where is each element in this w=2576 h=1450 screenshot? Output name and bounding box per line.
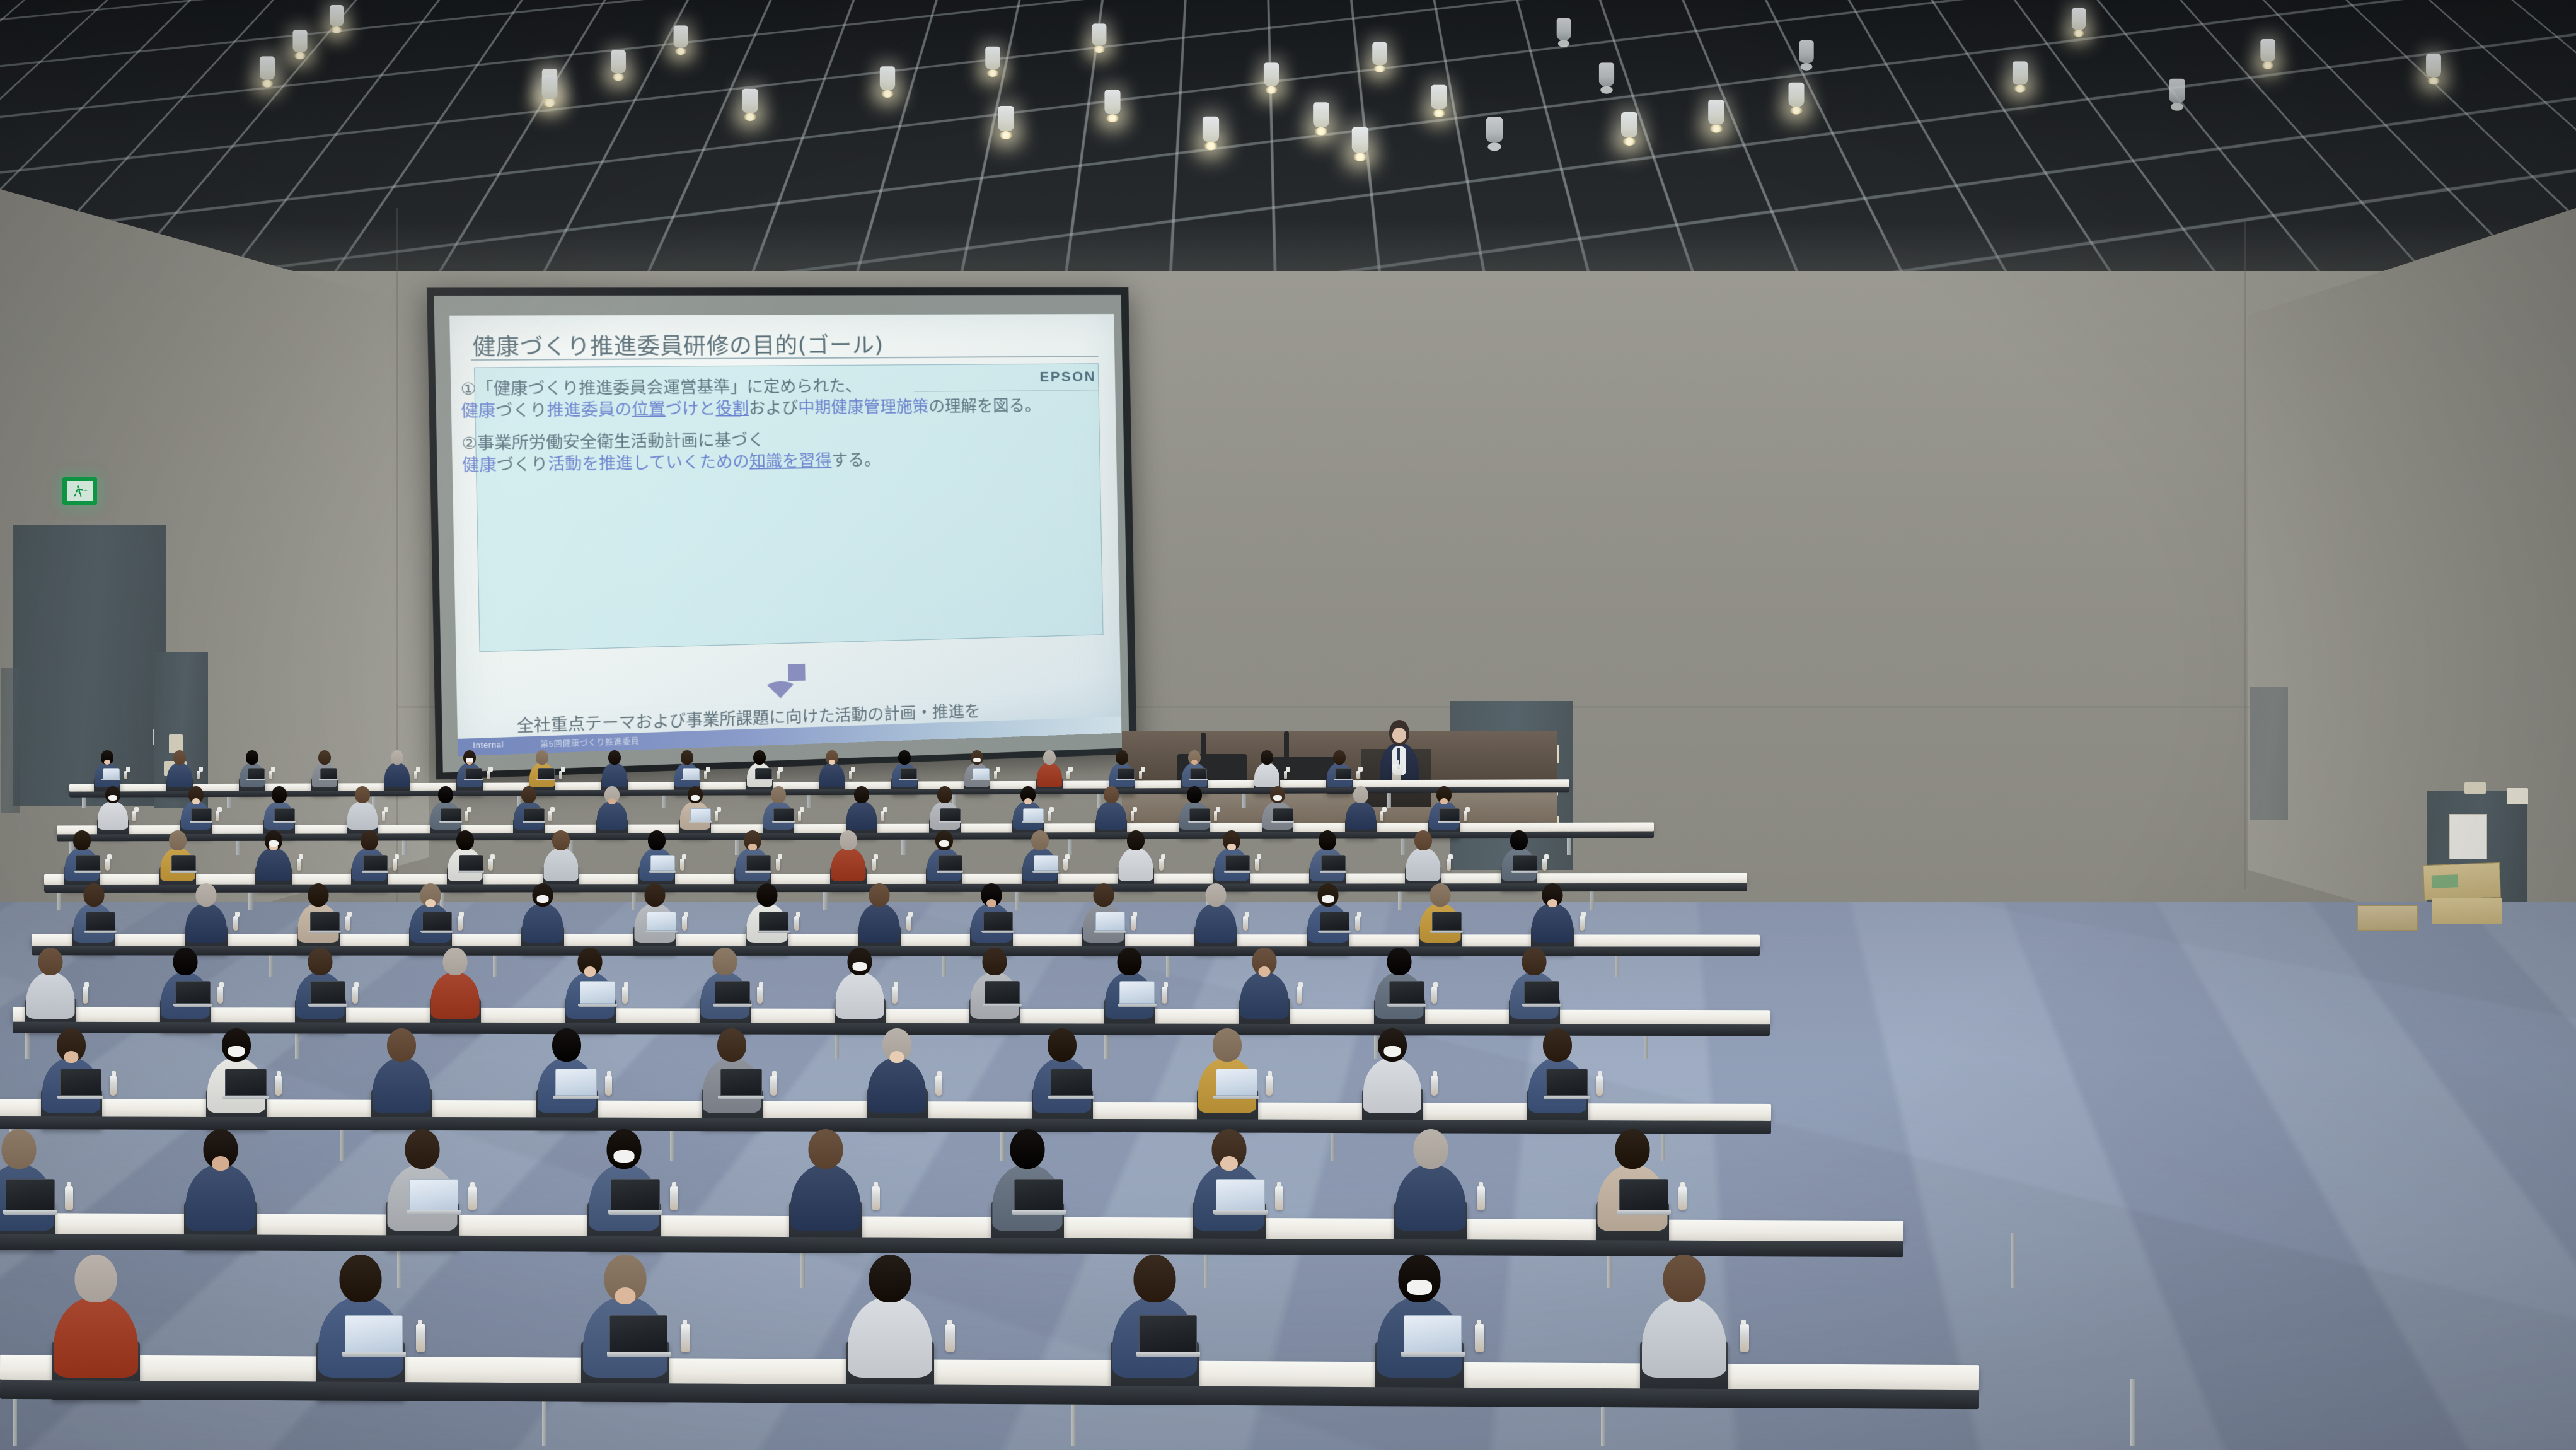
laptop-keyboard[interactable] bbox=[1032, 871, 1060, 873]
laptop-keyboard[interactable] bbox=[536, 779, 555, 780]
laptop-screen[interactable] bbox=[363, 855, 388, 871]
laptop-keyboard[interactable] bbox=[1334, 779, 1353, 780]
laptop[interactable] bbox=[1139, 1315, 1197, 1357]
attendee bbox=[428, 943, 482, 1014]
attendee bbox=[833, 943, 887, 1014]
laptop-screen[interactable] bbox=[191, 808, 212, 821]
laptop-keyboard[interactable] bbox=[1022, 821, 1044, 823]
laptop[interactable] bbox=[6, 1179, 55, 1215]
laptop-keyboard[interactable] bbox=[101, 779, 120, 780]
laptop-screen[interactable] bbox=[459, 855, 483, 871]
attendee bbox=[49, 1247, 143, 1370]
laptop[interactable] bbox=[580, 981, 615, 1007]
laptop[interactable] bbox=[1216, 1069, 1257, 1099]
water-bottle bbox=[704, 771, 707, 779]
laptop-screen[interactable] bbox=[983, 912, 1013, 931]
laptop-keyboard[interactable] bbox=[689, 821, 712, 823]
laptop-screen[interactable] bbox=[1432, 912, 1462, 931]
water-bottle bbox=[1066, 771, 1070, 779]
water-bottle bbox=[994, 771, 997, 779]
laptop[interactable] bbox=[248, 768, 265, 780]
laptop-screen[interactable] bbox=[1051, 1069, 1092, 1096]
laptop[interactable] bbox=[650, 855, 675, 873]
attendee-neck bbox=[1024, 798, 1032, 804]
laptop[interactable] bbox=[755, 768, 772, 780]
laptop-keyboard[interactable] bbox=[983, 1004, 1022, 1007]
laptop-screen[interactable] bbox=[1273, 808, 1293, 821]
laptop-screen[interactable] bbox=[1034, 855, 1058, 871]
laptop-keyboard[interactable] bbox=[1320, 871, 1347, 873]
laptop-keyboard[interactable] bbox=[971, 779, 990, 780]
laptop-screen[interactable] bbox=[1439, 808, 1460, 821]
laptop-screen[interactable] bbox=[1335, 768, 1352, 779]
laptop-screen[interactable] bbox=[1139, 1315, 1197, 1352]
laptop-screen[interactable] bbox=[345, 1315, 403, 1352]
laptop[interactable] bbox=[1216, 1179, 1265, 1215]
laptop[interactable] bbox=[647, 912, 676, 933]
water-bottle bbox=[1255, 859, 1259, 871]
laptop-keyboard[interactable] bbox=[1511, 871, 1539, 873]
attendee-neck bbox=[192, 798, 200, 804]
laptop-keyboard[interactable] bbox=[745, 871, 772, 873]
laptop-keyboard[interactable] bbox=[273, 821, 296, 823]
laptop-keyboard[interactable] bbox=[1189, 779, 1208, 780]
laptop-keyboard[interactable] bbox=[84, 931, 117, 933]
laptop-screen[interactable] bbox=[1546, 1069, 1588, 1096]
attendee-head bbox=[2, 1129, 37, 1169]
laptop[interactable] bbox=[938, 855, 962, 873]
laptop-screen[interactable] bbox=[683, 768, 700, 779]
water-bottle bbox=[83, 987, 88, 1004]
water-bottle bbox=[1477, 1186, 1485, 1210]
laptop[interactable] bbox=[103, 768, 120, 780]
laptop[interactable] bbox=[983, 912, 1013, 933]
laptop-screen[interactable] bbox=[1225, 855, 1250, 871]
laptop-keyboard[interactable] bbox=[342, 1352, 406, 1357]
ceiling-spotlight bbox=[2072, 8, 2086, 30]
face-mask-icon bbox=[939, 840, 949, 847]
attendee-neck bbox=[748, 844, 757, 850]
laptop[interactable] bbox=[1051, 1069, 1092, 1099]
attendee-torso bbox=[1119, 848, 1153, 881]
laptop-screen[interactable] bbox=[6, 1179, 55, 1210]
laptop-keyboard[interactable] bbox=[981, 931, 1014, 933]
laptop[interactable] bbox=[985, 981, 1020, 1007]
laptop-screen[interactable] bbox=[773, 808, 794, 821]
laptop-keyboard[interactable] bbox=[1438, 821, 1460, 823]
laptop-keyboard[interactable] bbox=[1271, 821, 1294, 823]
laptop[interactable] bbox=[441, 808, 461, 823]
laptop[interactable] bbox=[171, 855, 196, 873]
attendee-head bbox=[308, 948, 333, 975]
laptop[interactable] bbox=[759, 912, 788, 933]
laptop[interactable] bbox=[1273, 808, 1293, 823]
laptop[interactable] bbox=[175, 981, 211, 1007]
laptop-keyboard[interactable] bbox=[1544, 1096, 1590, 1099]
laptop[interactable] bbox=[1118, 768, 1135, 780]
laptop-keyboard[interactable] bbox=[1012, 1210, 1066, 1215]
bullet2-seg-c: づくり bbox=[496, 455, 548, 474]
laptop-screen[interactable] bbox=[720, 1069, 762, 1096]
attendee-neck bbox=[64, 1051, 78, 1063]
laptop[interactable] bbox=[310, 912, 340, 933]
laptop[interactable] bbox=[1023, 808, 1044, 823]
laptop-screen[interactable] bbox=[103, 768, 120, 779]
laptop-screen[interactable] bbox=[1023, 808, 1044, 821]
laptop[interactable] bbox=[609, 1315, 667, 1357]
laptop[interactable] bbox=[773, 808, 794, 823]
laptop[interactable] bbox=[1320, 912, 1349, 933]
laptop-screen[interactable] bbox=[611, 1179, 660, 1210]
water-bottle bbox=[1431, 987, 1437, 1004]
laptop-keyboard[interactable] bbox=[57, 1096, 103, 1099]
laptop[interactable] bbox=[274, 808, 295, 823]
laptop-keyboard[interactable] bbox=[1118, 1004, 1157, 1007]
attendee-neck bbox=[1191, 760, 1198, 765]
laptop-screen[interactable] bbox=[1321, 855, 1346, 871]
laptop-keyboard[interactable] bbox=[1224, 871, 1251, 873]
presenter-face bbox=[1392, 728, 1406, 743]
laptop-screen[interactable] bbox=[60, 1069, 101, 1096]
laptop[interactable] bbox=[720, 1069, 762, 1099]
laptop-keyboard[interactable] bbox=[1387, 1004, 1426, 1007]
ceiling-spotlight bbox=[2260, 39, 2275, 62]
attendee-head bbox=[391, 750, 403, 765]
attendee-head bbox=[1010, 1129, 1045, 1169]
ceiling-spotlight bbox=[1486, 117, 1503, 142]
laptop-keyboard[interactable] bbox=[362, 871, 389, 873]
laptop-screen[interactable] bbox=[465, 768, 482, 779]
laptop-keyboard[interactable] bbox=[718, 1096, 764, 1099]
laptop-screen[interactable] bbox=[973, 768, 990, 779]
laptop[interactable] bbox=[1513, 855, 1537, 873]
ceiling-spotlight bbox=[880, 66, 895, 90]
attendee-torso bbox=[791, 1164, 861, 1231]
laptop-screen[interactable] bbox=[755, 768, 772, 779]
laptop-screen[interactable] bbox=[985, 981, 1020, 1004]
attendee-head bbox=[73, 830, 91, 850]
laptop-keyboard[interactable] bbox=[553, 1096, 599, 1099]
attendee-head bbox=[272, 786, 287, 803]
attendee-torso bbox=[1532, 903, 1573, 942]
laptop-keyboard[interactable] bbox=[1136, 1352, 1200, 1357]
projection-screen: 健康づくり推進委員研修の目的(ゴール) EPSON ①「健康づくり推進委員会運営… bbox=[427, 287, 1137, 779]
laptop-keyboard[interactable] bbox=[170, 871, 197, 873]
laptop-keyboard[interactable] bbox=[190, 821, 212, 823]
laptop-screen[interactable] bbox=[320, 768, 337, 779]
laptop[interactable] bbox=[900, 768, 917, 780]
laptop[interactable] bbox=[409, 1179, 458, 1215]
mic-stand-2 bbox=[1284, 731, 1289, 759]
laptop-screen[interactable] bbox=[1404, 1315, 1462, 1352]
bullet2-seg-f: する。 bbox=[831, 450, 881, 470]
ceiling-spotlight bbox=[1264, 62, 1279, 86]
laptop[interactable] bbox=[746, 855, 771, 873]
attendee-head bbox=[169, 830, 187, 850]
laptop-screen[interactable] bbox=[274, 808, 295, 821]
laptop-keyboard[interactable] bbox=[939, 821, 961, 823]
laptop-screen[interactable] bbox=[422, 912, 452, 931]
bullet2-seg-b: 健康 bbox=[462, 455, 497, 475]
laptop-keyboard[interactable] bbox=[439, 821, 462, 823]
laptop[interactable] bbox=[690, 808, 711, 823]
laptop-keyboard[interactable] bbox=[607, 1352, 671, 1357]
laptop-screen[interactable] bbox=[647, 912, 676, 931]
attendee-torso bbox=[1096, 801, 1126, 830]
attendee-torso bbox=[819, 763, 845, 787]
laptop-screen[interactable] bbox=[1513, 855, 1537, 871]
laptop-keyboard[interactable] bbox=[681, 779, 700, 780]
laptop-keyboard[interactable] bbox=[754, 779, 773, 780]
laptop[interactable] bbox=[60, 1069, 101, 1099]
laptop-keyboard[interactable] bbox=[772, 821, 795, 823]
face-mask-icon bbox=[108, 795, 117, 801]
laptop-keyboard[interactable] bbox=[173, 1004, 212, 1007]
laptop-keyboard[interactable] bbox=[1213, 1096, 1259, 1099]
laptop[interactable] bbox=[1014, 1179, 1063, 1215]
laptop-keyboard[interactable] bbox=[1094, 931, 1126, 933]
laptop[interactable] bbox=[940, 808, 961, 823]
laptop-screen[interactable] bbox=[248, 768, 265, 779]
laptop-screen[interactable] bbox=[76, 855, 100, 871]
laptop[interactable] bbox=[459, 855, 483, 873]
laptop[interactable] bbox=[555, 1069, 597, 1099]
attendee-head bbox=[1663, 1255, 1706, 1302]
water-bottle bbox=[892, 987, 898, 1004]
laptop[interactable] bbox=[1546, 1069, 1588, 1099]
laptop[interactable] bbox=[715, 981, 750, 1007]
laptop-keyboard[interactable] bbox=[1318, 931, 1351, 933]
attendee-torso bbox=[431, 972, 480, 1019]
water-bottle bbox=[1131, 916, 1136, 931]
laptop-screen[interactable] bbox=[1189, 808, 1210, 821]
water-bottle bbox=[465, 811, 468, 821]
water-bottle bbox=[233, 916, 238, 931]
ceiling-spotlight bbox=[1352, 127, 1369, 153]
laptop[interactable] bbox=[1404, 1315, 1462, 1357]
water-bottle bbox=[110, 1076, 117, 1096]
laptop[interactable] bbox=[538, 768, 555, 780]
laptop-keyboard[interactable] bbox=[649, 871, 676, 873]
laptop-screen[interactable] bbox=[86, 912, 115, 931]
attendee-head bbox=[1043, 750, 1056, 765]
laptop-screen[interactable] bbox=[650, 855, 675, 871]
laptop[interactable] bbox=[76, 855, 100, 873]
face-mask-icon bbox=[269, 840, 279, 847]
attendee-head bbox=[1187, 786, 1202, 803]
laptop-keyboard[interactable] bbox=[308, 1004, 347, 1007]
attendee-head bbox=[75, 1255, 117, 1302]
attendee-torso bbox=[186, 903, 227, 942]
laptop-screen[interactable] bbox=[1619, 1179, 1668, 1210]
laptop-screen[interactable] bbox=[940, 808, 961, 821]
laptop-keyboard[interactable] bbox=[222, 1096, 269, 1099]
laptop-screen[interactable] bbox=[555, 1069, 597, 1096]
laptop[interactable] bbox=[225, 1069, 267, 1099]
laptop-screen[interactable] bbox=[441, 808, 461, 821]
screen-mat: 健康づくり推進委員研修の目的(ゴール) EPSON ①「健康づくり推進委員会運営… bbox=[434, 295, 1129, 772]
laptop-keyboard[interactable] bbox=[464, 779, 483, 780]
attendee-head bbox=[1430, 883, 1451, 907]
attendee bbox=[369, 1023, 434, 1108]
laptop-screen[interactable] bbox=[1014, 1179, 1063, 1210]
laptop[interactable] bbox=[320, 768, 337, 780]
laptop-keyboard[interactable] bbox=[407, 1210, 461, 1215]
laptop-keyboard[interactable] bbox=[1188, 821, 1211, 823]
laptop-screen[interactable] bbox=[310, 912, 340, 931]
laptop-keyboard[interactable] bbox=[3, 1210, 57, 1215]
laptop[interactable] bbox=[1321, 855, 1346, 873]
water-bottle bbox=[1297, 987, 1302, 1004]
laptop[interactable] bbox=[611, 1179, 660, 1215]
laptop[interactable] bbox=[310, 981, 345, 1007]
water-bottle bbox=[605, 1076, 612, 1096]
laptop-screen[interactable] bbox=[715, 981, 750, 1004]
wall-seam-left bbox=[396, 208, 398, 908]
ceiling-spotlight bbox=[985, 47, 1000, 69]
laptop-keyboard[interactable] bbox=[1430, 931, 1463, 933]
attendee-torso bbox=[597, 801, 627, 830]
laptop-screen[interactable] bbox=[1216, 1179, 1265, 1210]
laptop-screen[interactable] bbox=[938, 855, 962, 871]
laptop-screen[interactable] bbox=[1216, 1069, 1257, 1096]
water-bottle bbox=[757, 987, 763, 1004]
attendee bbox=[1360, 1023, 1424, 1108]
laptop[interactable] bbox=[683, 768, 700, 780]
laptop[interactable] bbox=[1034, 855, 1058, 873]
laptop-keyboard[interactable] bbox=[246, 779, 265, 780]
laptop-screen[interactable] bbox=[1320, 912, 1349, 931]
laptop[interactable] bbox=[1095, 912, 1125, 933]
laptop[interactable] bbox=[1189, 808, 1210, 823]
attendee-head bbox=[757, 883, 778, 907]
laptop-keyboard[interactable] bbox=[578, 1004, 617, 1007]
water-bottle bbox=[1284, 771, 1287, 779]
laptop[interactable] bbox=[1335, 768, 1352, 780]
attendee-head bbox=[848, 948, 872, 975]
laptop-screen[interactable] bbox=[1119, 981, 1155, 1004]
laptop[interactable] bbox=[191, 808, 212, 823]
laptop-keyboard[interactable] bbox=[937, 871, 964, 873]
water-bottle bbox=[777, 771, 780, 779]
laptop-screen[interactable] bbox=[1118, 768, 1135, 779]
ceiling-spotlight bbox=[1789, 83, 1805, 107]
laptop-keyboard[interactable] bbox=[1522, 1004, 1561, 1007]
attendee-head bbox=[1104, 786, 1119, 803]
laptop[interactable] bbox=[1524, 981, 1559, 1007]
laptop-keyboard[interactable] bbox=[757, 931, 790, 933]
laptop-screen[interactable] bbox=[409, 1179, 458, 1210]
laptop-keyboard[interactable] bbox=[458, 871, 485, 873]
laptop[interactable] bbox=[363, 855, 388, 873]
attendee-head bbox=[713, 948, 737, 975]
laptop[interactable] bbox=[465, 768, 482, 780]
laptop[interactable] bbox=[86, 912, 115, 933]
bullet1-seg-a: ①「健康づくり推進委員会運営基準」に定められた、 bbox=[460, 376, 862, 398]
water-bottle bbox=[622, 987, 628, 1004]
laptop-keyboard[interactable] bbox=[1116, 779, 1135, 780]
attendee-torso bbox=[1196, 903, 1237, 942]
laptop-screen[interactable] bbox=[609, 1315, 667, 1352]
attendee-head bbox=[443, 948, 468, 975]
attendee-head bbox=[840, 830, 857, 850]
laptop-keyboard[interactable] bbox=[608, 1210, 662, 1215]
laptop-screen[interactable] bbox=[538, 768, 555, 779]
laptop-screen[interactable] bbox=[1389, 981, 1424, 1004]
laptop[interactable] bbox=[1432, 912, 1462, 933]
laptop[interactable] bbox=[422, 912, 452, 933]
laptop-keyboard[interactable] bbox=[899, 779, 918, 780]
laptop-screen[interactable] bbox=[225, 1069, 267, 1096]
laptop-screen[interactable] bbox=[1190, 768, 1207, 779]
attendee-head bbox=[809, 1129, 843, 1169]
laptop-keyboard[interactable] bbox=[1213, 1210, 1268, 1215]
laptop-screen[interactable] bbox=[1095, 912, 1125, 931]
laptop-keyboard[interactable] bbox=[74, 871, 101, 873]
emergency-exit-sign bbox=[62, 477, 97, 505]
attendee-torso bbox=[836, 972, 884, 1019]
attendee-head bbox=[552, 1028, 581, 1062]
water-bottle bbox=[1596, 1076, 1603, 1096]
laptop[interactable] bbox=[1119, 981, 1155, 1007]
laptop[interactable] bbox=[1190, 768, 1207, 780]
attendee bbox=[845, 784, 879, 827]
left-door-tall[interactable] bbox=[13, 525, 166, 806]
water-bottle bbox=[1356, 771, 1360, 779]
laptop-screen[interactable] bbox=[175, 981, 211, 1004]
laptop-screen[interactable] bbox=[690, 808, 711, 821]
laptop[interactable] bbox=[1225, 855, 1250, 873]
laptop-keyboard[interactable] bbox=[1401, 1352, 1465, 1357]
attendee-neck bbox=[1227, 844, 1236, 850]
attendee-head bbox=[1414, 1129, 1448, 1169]
attendee-head bbox=[361, 830, 378, 850]
laptop[interactable] bbox=[524, 808, 545, 823]
laptop-screen[interactable] bbox=[900, 768, 917, 779]
attendee bbox=[787, 1123, 865, 1224]
laptop-screen[interactable] bbox=[524, 808, 545, 821]
laptop-keyboard[interactable] bbox=[645, 931, 678, 933]
water-bottle bbox=[1266, 1076, 1273, 1096]
laptop[interactable] bbox=[345, 1315, 403, 1357]
laptop[interactable] bbox=[1619, 1179, 1668, 1215]
ceiling-spotlight bbox=[1203, 117, 1219, 142]
laptop-keyboard[interactable] bbox=[523, 821, 545, 823]
laptop-screen[interactable] bbox=[746, 855, 771, 871]
water-bottle bbox=[935, 1076, 942, 1096]
laptop-screen[interactable] bbox=[310, 981, 345, 1004]
laptop[interactable] bbox=[1439, 808, 1460, 823]
laptop-screen[interactable] bbox=[580, 981, 615, 1004]
attendee-head bbox=[1333, 750, 1346, 765]
attendee-neck bbox=[1440, 798, 1448, 804]
laptop-keyboard[interactable] bbox=[1048, 1096, 1094, 1099]
laptop[interactable] bbox=[1389, 981, 1424, 1007]
water-bottle bbox=[487, 771, 490, 779]
laptop[interactable] bbox=[973, 768, 990, 780]
laptop-keyboard[interactable] bbox=[1617, 1210, 1671, 1215]
laptop-screen[interactable] bbox=[1524, 981, 1559, 1004]
water-bottle bbox=[352, 987, 358, 1004]
laptop-keyboard[interactable] bbox=[308, 931, 341, 933]
laptop-screen[interactable] bbox=[759, 912, 788, 931]
bullet1-seg-g: 役割 bbox=[715, 398, 749, 417]
laptop-keyboard[interactable] bbox=[319, 779, 338, 780]
laptop-screen[interactable] bbox=[171, 855, 196, 871]
right-wall-notice bbox=[2507, 788, 2528, 804]
laptop-keyboard[interactable] bbox=[420, 931, 453, 933]
laptop-keyboard[interactable] bbox=[713, 1004, 752, 1007]
